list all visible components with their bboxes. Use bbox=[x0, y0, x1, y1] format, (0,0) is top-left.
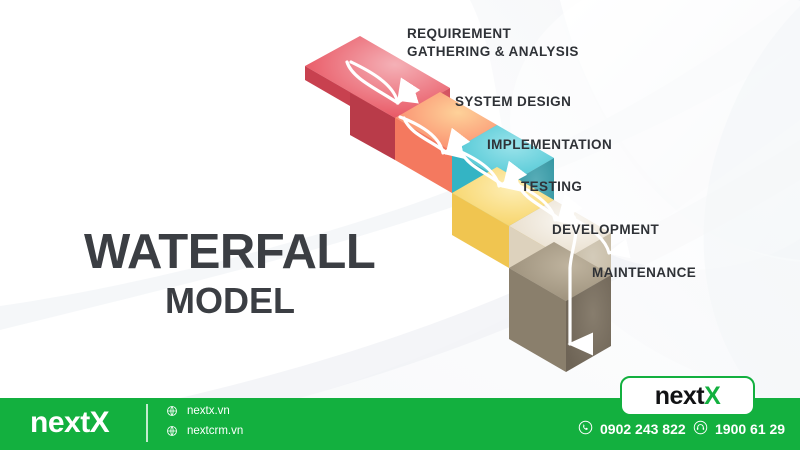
title-line-model: MODEL bbox=[84, 283, 376, 319]
nextx-logo-badge[interactable]: nextX bbox=[620, 376, 755, 416]
page-title: WATERFALL MODEL bbox=[84, 228, 384, 319]
phone-number-hotline: 1900 61 29 bbox=[715, 421, 785, 437]
website-url-nextcrm: nextcrm.vn bbox=[187, 425, 243, 437]
phone-icon bbox=[578, 420, 593, 438]
logo-text-x: X bbox=[704, 382, 720, 411]
step-label-development: DEVELOPMENT bbox=[552, 221, 659, 239]
step-label-testing: TESTING bbox=[521, 178, 582, 196]
footer-brand-name: nextX bbox=[30, 406, 109, 440]
step-label-system-design: SYSTEM DESIGN bbox=[455, 93, 571, 111]
globe-icon bbox=[166, 405, 178, 417]
phone-row-hotline[interactable]: 1900 61 29 bbox=[693, 420, 785, 438]
globe-icon bbox=[166, 425, 178, 437]
hotline-icon bbox=[693, 420, 708, 438]
logo-text-next: next bbox=[655, 382, 704, 411]
title-line-waterfall: WATERFALL bbox=[84, 228, 384, 277]
phone-row-primary[interactable]: 0902 243 822 bbox=[578, 420, 686, 438]
poster-canvas: REQUIREMENT GATHERING & ANALYSIS SYSTEM … bbox=[0, 0, 800, 450]
website-row-nextcrm[interactable]: nextcrm.vn bbox=[166, 425, 243, 437]
waterfall-steps-diagram bbox=[0, 0, 800, 400]
step-label-implementation: IMPLEMENTATION bbox=[487, 136, 612, 154]
step-label-requirement-gathering-analysis: REQUIREMENT GATHERING & ANALYSIS bbox=[407, 25, 579, 61]
footer-divider bbox=[146, 404, 148, 442]
step-label-maintenance: MAINTENANCE bbox=[592, 264, 696, 282]
website-row-nextx[interactable]: nextx.vn bbox=[166, 405, 230, 417]
phone-number-primary: 0902 243 822 bbox=[600, 421, 686, 437]
website-url-nextx: nextx.vn bbox=[187, 405, 230, 417]
